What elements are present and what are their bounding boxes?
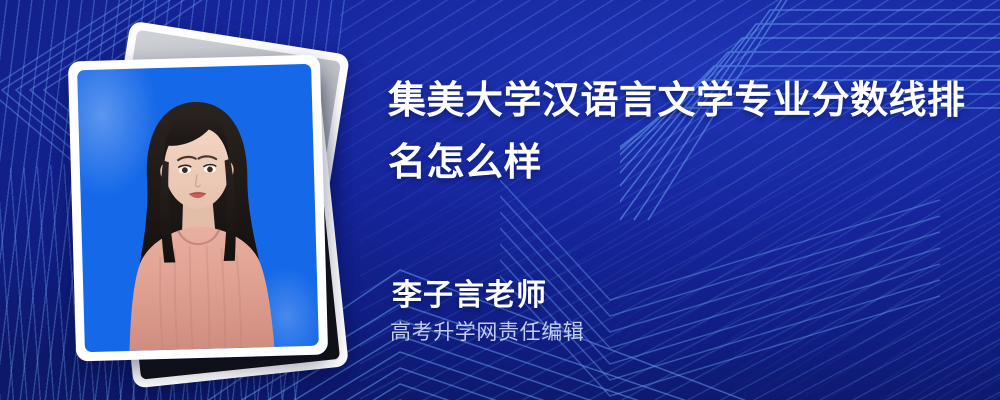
portrait-avatar-icon	[77, 64, 319, 352]
photo-card-front	[68, 55, 328, 362]
author-photo	[77, 64, 319, 352]
author-role: 高考升学网责任编辑	[390, 316, 584, 346]
text-column: 集美大学汉语言文学专业分数线排名怎么样 李子言老师 高考升学网责任编辑	[388, 0, 978, 400]
article-cover-banner: 集美大学汉语言文学专业分数线排名怎么样 李子言老师 高考升学网责任编辑	[0, 0, 1000, 400]
page-title: 集美大学汉语言文学专业分数线排名怎么样	[388, 70, 968, 194]
photo-stack	[60, 30, 360, 370]
author-name: 李子言老师	[392, 270, 547, 314]
